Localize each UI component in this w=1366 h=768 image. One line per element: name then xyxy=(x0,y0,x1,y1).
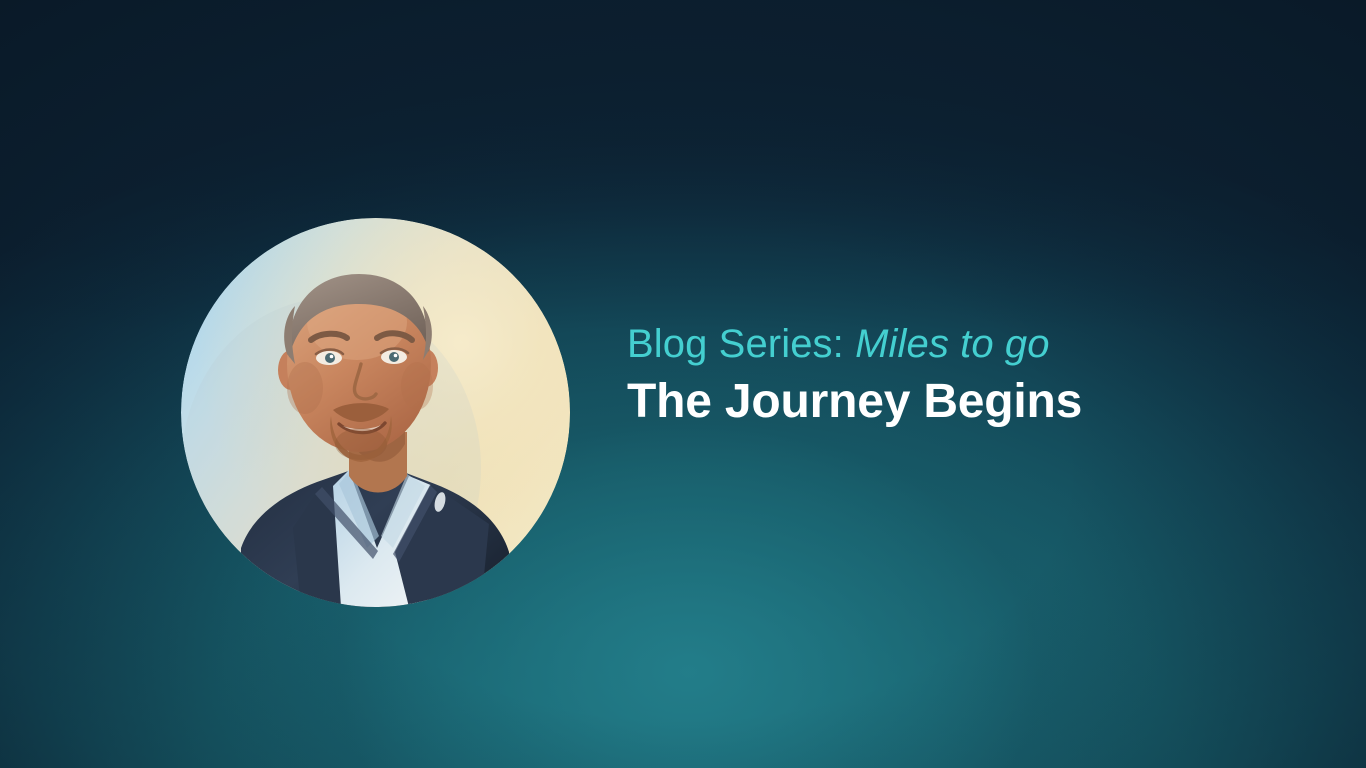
portrait-photo xyxy=(181,218,570,607)
eyebrow-prefix-label: Blog Series: xyxy=(627,322,855,366)
post-title: The Journey Begins xyxy=(627,374,1307,430)
blog-series-banner: Blog Series: Miles to go The Journey Beg… xyxy=(0,0,1366,768)
author-portrait-avatar xyxy=(181,218,570,607)
blog-series-eyebrow: Blog Series: Miles to go xyxy=(627,318,1307,370)
series-title-label: Miles to go xyxy=(855,322,1050,366)
headline-block: Blog Series: Miles to go The Journey Beg… xyxy=(627,318,1307,430)
